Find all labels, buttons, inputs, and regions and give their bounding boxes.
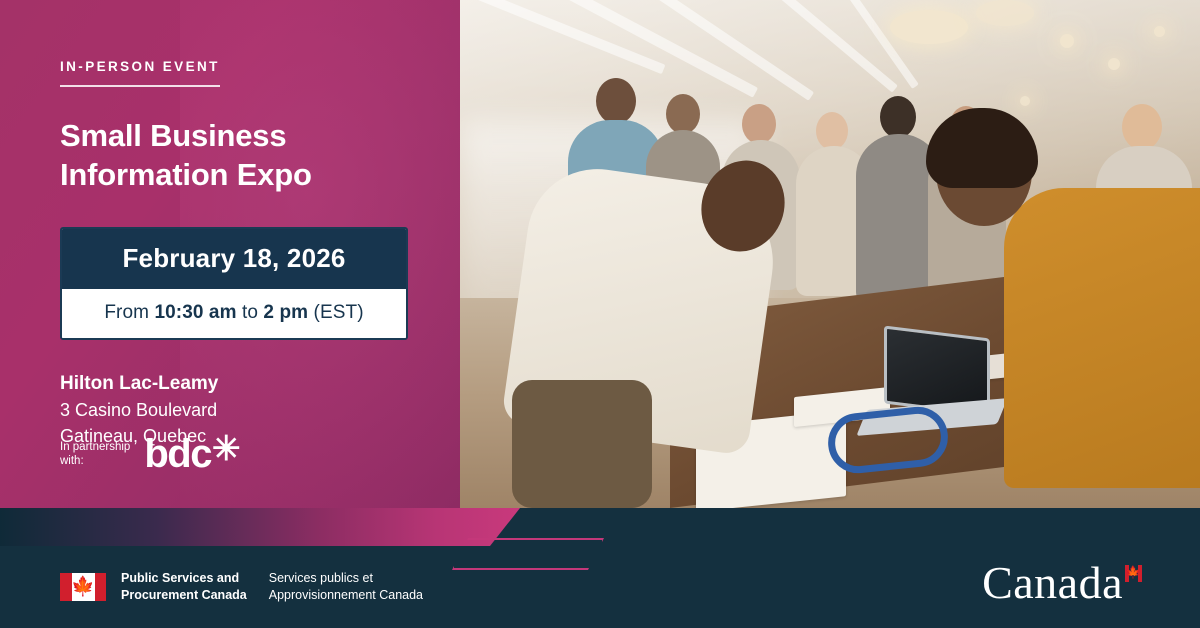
wordmark-flag-icon: 🍁 [1125,565,1142,582]
flag-bar-right [95,573,107,601]
background-person-head [880,96,916,138]
government-footer: 🍁 Public Services and Procurement Canada… [0,508,1200,628]
background-person-head [742,104,776,144]
bdc-asterisk-icon: ✳ [212,432,239,466]
background-person-head [816,112,848,150]
psp-department-names: Public Services and Procurement Canada S… [121,570,423,604]
background-person-head [1122,104,1162,150]
ceiling-light [1154,26,1165,37]
event-title-line-1: Small Business [60,117,420,156]
foreground-person-bag [512,380,652,508]
event-time-prefix: From [104,302,154,323]
venue-name: Hilton Lac-Leamy [60,370,420,398]
canada-flag-icon: 🍁 [60,573,106,601]
wordmark-maple-leaf-icon: 🍁 [1126,566,1141,578]
ceiling-light [890,10,968,44]
partnership-label: In partnership with: [60,440,130,469]
ceiling-light [976,0,1034,26]
canada-wordmark-text: Canada [982,557,1123,608]
event-title-line-2: Information Expo [60,156,420,195]
event-photo [460,0,1200,508]
accent-outline-shape [452,538,604,570]
flag-bar-left [60,573,72,601]
canada-wordmark: Canada🍁 [982,560,1142,606]
department-name-en: Public Services and Procurement Canada [121,570,247,604]
foreground-person-shirt [1004,188,1200,488]
venue-street: 3 Casino Boulevard [60,397,420,423]
bdc-logo-text: bdc [144,434,211,474]
event-time-end: 2 pm [263,302,308,323]
ceiling-light [1108,58,1120,70]
event-time: From 10:30 am to 2 pm (EST) [62,289,406,338]
maple-leaf-icon: 🍁 [71,577,95,596]
accent-stripe [0,508,520,546]
event-type-eyebrow: IN-PERSON EVENT [60,59,220,87]
event-poster: IN-PERSON EVENT Small Business Informati… [0,0,1200,628]
psp-signature: 🍁 Public Services and Procurement Canada… [60,570,423,604]
event-time-zone: (EST) [308,302,364,323]
event-info-panel: IN-PERSON EVENT Small Business Informati… [0,0,460,508]
event-date: February 18, 2026 [62,229,406,289]
event-title: Small Business Information Expo [60,117,420,195]
bdc-logo: bdc ✳ [144,434,239,474]
event-datetime-block: February 18, 2026 From 10:30 am to 2 pm … [60,227,408,340]
partnership-block: In partnership with: bdc ✳ [60,434,239,474]
event-info-content: IN-PERSON EVENT Small Business Informati… [0,0,460,449]
event-time-start: 10:30 am [154,302,236,323]
background-person-head [596,78,636,124]
event-time-join: to [237,302,264,323]
ceiling-light [1020,96,1030,106]
ceiling-light [1060,34,1074,48]
background-person-head [666,94,700,134]
department-name-fr: Services publics et Approvisionnement Ca… [269,570,423,604]
